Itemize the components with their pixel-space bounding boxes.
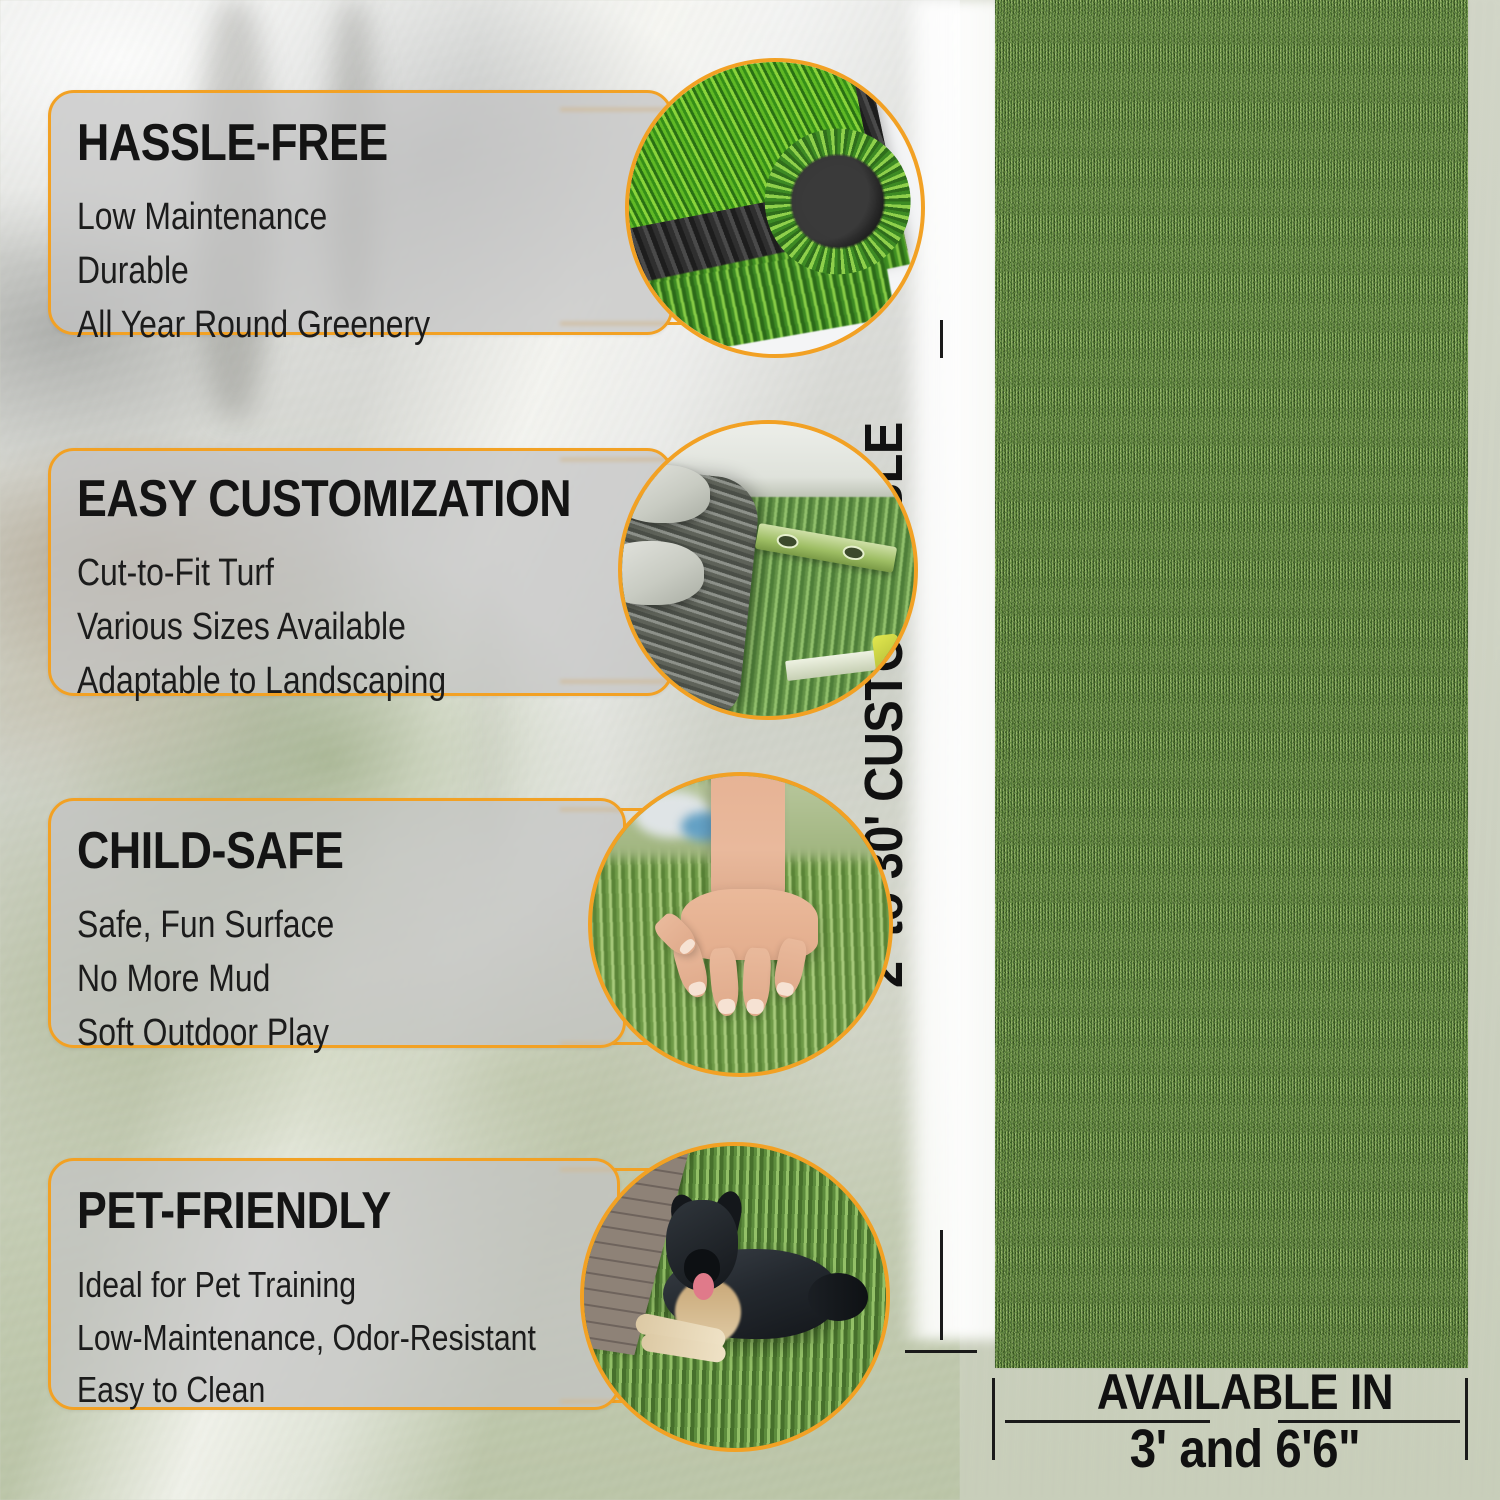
width-dimension-tick-left xyxy=(992,1378,995,1460)
dog-tail xyxy=(808,1273,868,1321)
feature-bullet: Cut-to-Fit Turf xyxy=(77,547,446,601)
feature-bullet: Adaptable to Landscaping xyxy=(77,655,446,709)
turf-swatch-fibers xyxy=(995,0,1468,1368)
feature-bullets-pet-friendly: Ideal for Pet Training Low-Maintenance, … xyxy=(77,1259,623,1417)
feature-bullet: Soft Outdoor Play xyxy=(77,1007,334,1061)
length-dimension-line-bottom xyxy=(940,1230,943,1340)
photo-clip xyxy=(592,776,889,1073)
feature-title-easy-customization: EASY CUSTOMIZATION xyxy=(77,473,571,525)
feature-bullet: Safe, Fun Surface xyxy=(77,899,334,953)
photo-clip xyxy=(584,1146,886,1448)
photo-clip xyxy=(629,62,921,354)
feature-bullet: Low-Maintenance, Odor-Resistant xyxy=(77,1312,536,1365)
feature-card-pet-friendly: PET-FRIENDLY Ideal for Pet Training Low-… xyxy=(48,1158,620,1410)
feature-title-pet-friendly: PET-FRIENDLY xyxy=(77,1185,391,1237)
dog-tongue xyxy=(693,1273,714,1300)
feature-bullet: Ideal for Pet Training xyxy=(77,1259,536,1312)
level-vial xyxy=(775,532,800,550)
feature-photo-dog-on-turf xyxy=(580,1142,890,1452)
feature-card-easy-customization: EASY CUSTOMIZATION Cut-to-Fit Turf Vario… xyxy=(48,448,673,696)
feature-bullet: Low Maintenance xyxy=(77,191,430,245)
feature-bullet: All Year Round Greenery xyxy=(77,299,430,353)
feature-photo-child-hand-on-turf xyxy=(588,772,893,1077)
feature-title-hassle-free: HASSLE-FREE xyxy=(77,117,388,169)
feature-bullets-easy-customization: Cut-to-Fit Turf Various Sizes Available … xyxy=(77,547,516,709)
feature-card-hassle-free: HASSLE-FREE Low Maintenance Durable All … xyxy=(48,90,673,335)
feature-photo-turf-installation xyxy=(618,420,918,720)
feature-bullets-hassle-free: Low Maintenance Durable All Year Round G… xyxy=(77,191,497,353)
width-dimension-label-line2: 3' and 6'6" xyxy=(1038,1423,1452,1476)
work-glove xyxy=(622,541,704,605)
child-forearm xyxy=(711,776,785,907)
level-vial xyxy=(842,544,867,562)
width-dimension-label-line1: AVAILABLE IN xyxy=(1038,1368,1452,1417)
length-dimension-line-top xyxy=(940,320,943,358)
feature-card-child-safe: CHILD-SAFE Safe, Fun Surface No More Mud… xyxy=(48,798,626,1048)
width-dimension-label: AVAILABLE IN 3' and 6'6" xyxy=(1010,1368,1480,1476)
feature-bullet: Easy to Clean xyxy=(77,1364,536,1417)
feature-bullet: No More Mud xyxy=(77,953,334,1007)
feature-bullets-child-safe: Safe, Fun Surface No More Mud Soft Outdo… xyxy=(77,899,383,1061)
infographic-canvas: 2' to 30' CUSTOMIZABLE AVAILABLE IN 3' a… xyxy=(0,0,1500,1500)
photo-clip xyxy=(622,424,914,716)
feature-photo-rolled-turf-mat xyxy=(625,58,925,358)
feature-bullet: Various Sizes Available xyxy=(77,601,446,655)
feature-title-child-safe: CHILD-SAFE xyxy=(77,825,343,877)
length-dimension-cap-bottom xyxy=(905,1350,977,1353)
feature-bullet: Durable xyxy=(77,245,430,299)
work-glove xyxy=(622,465,710,523)
